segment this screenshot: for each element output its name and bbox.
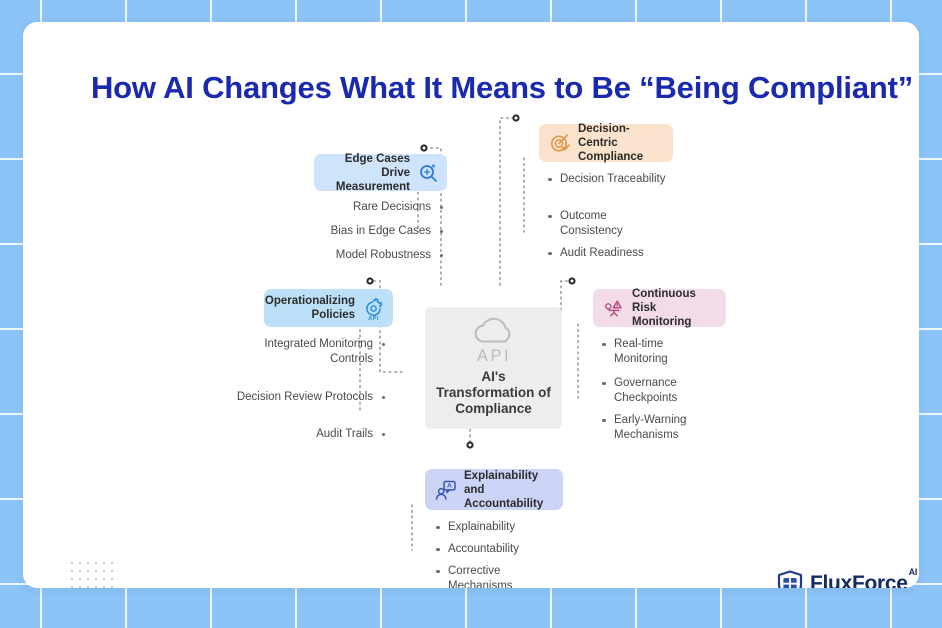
list-item: Early-Warning Mechanisms [601, 413, 726, 442]
branch-title-line1: Decision-Centric [578, 122, 664, 150]
list-item: Audit Trails [223, 427, 386, 442]
list-item: Real-time Monitoring [601, 337, 719, 366]
branch-header-edge-cases[interactable]: Edge Cases Drive Measurement [314, 154, 447, 191]
branch-title-explainability-accountability: Explainability and Accountability [464, 469, 554, 511]
branch-title-continuous-risk-monitoring: Continuous Risk Monitoring [632, 287, 717, 329]
person-chat-icon: A [434, 478, 458, 502]
branch-title-line1: Operationalizing [265, 294, 355, 308]
magnifier-search-icon [416, 161, 440, 185]
branch-header-decision-centric[interactable]: Decision-Centric Compliance [539, 124, 673, 162]
branch-header-operationalizing-policies[interactable]: Operationalizing Policies API [264, 289, 393, 327]
infographic-card: How AI Changes What It Means to Be “Bein… [23, 22, 919, 588]
shield-logo-icon [777, 570, 803, 588]
center-icon-label: API [476, 347, 510, 365]
branch-header-continuous-risk-monitoring[interactable]: Continuous Risk Monitoring [593, 289, 726, 327]
branch-title-decision-centric: Decision-Centric Compliance [578, 122, 664, 164]
svg-text:A: A [447, 482, 452, 489]
cloud-api-icon: API [465, 315, 523, 367]
list-item: Explainability [435, 520, 578, 535]
list-item: Outcome Consistency [547, 209, 670, 238]
branch-title-line1: Continuous Risk [632, 287, 717, 315]
list-item: Bias in Edge Cases [241, 224, 444, 239]
branch-title-line2: Accountability [464, 497, 554, 511]
branch-title-line2: Policies [265, 308, 355, 322]
center-label-line3: Compliance [436, 401, 551, 417]
target-check-icon [548, 131, 572, 155]
list-item: Model Robustness [241, 248, 444, 263]
branch-title-edge-cases: Edge Cases Drive Measurement [323, 152, 410, 194]
list-item: Governance Checkpoints [601, 376, 719, 405]
gear-api-icon: API [361, 296, 386, 321]
dot-grid-decoration [68, 559, 118, 588]
logo-text: FluxForceAI [810, 572, 916, 588]
list-item: Decision Traceability [547, 172, 670, 187]
list-item: Rare Decisions [241, 200, 444, 215]
center-label-line2: Transformation of [436, 385, 551, 401]
list-item: Audit Readiness [547, 246, 700, 261]
branch-title-line1: Edge Cases Drive [323, 152, 410, 180]
list-item: Corrective Mechanisms [435, 564, 543, 588]
center-node-label: AI's Transformation of Compliance [436, 369, 551, 417]
branch-title-line2: Monitoring [632, 315, 717, 329]
list-item: Integrated Monitoring Controls [223, 337, 386, 366]
branch-title-operationalizing-policies: Operationalizing Policies [265, 294, 355, 322]
list-item: Accountability [435, 542, 578, 557]
risk-warning-icon [602, 296, 626, 320]
svg-text:API: API [368, 315, 379, 320]
logo-name: FluxForce [810, 572, 908, 588]
list-item: Decision Review Protocols [223, 390, 386, 405]
branch-title-line1: Explainability and [464, 469, 554, 497]
center-node: API AI's Transformation of Compliance [425, 307, 562, 429]
branch-title-line2: Compliance [578, 150, 664, 164]
center-label-line1: AI's [436, 369, 551, 385]
brand-logo: FluxForceAI [777, 570, 916, 588]
branch-header-explainability-accountability[interactable]: A Explainability and Accountability [425, 469, 563, 510]
branch-title-line2: Measurement [323, 180, 410, 194]
logo-superscript: AI [909, 567, 917, 577]
